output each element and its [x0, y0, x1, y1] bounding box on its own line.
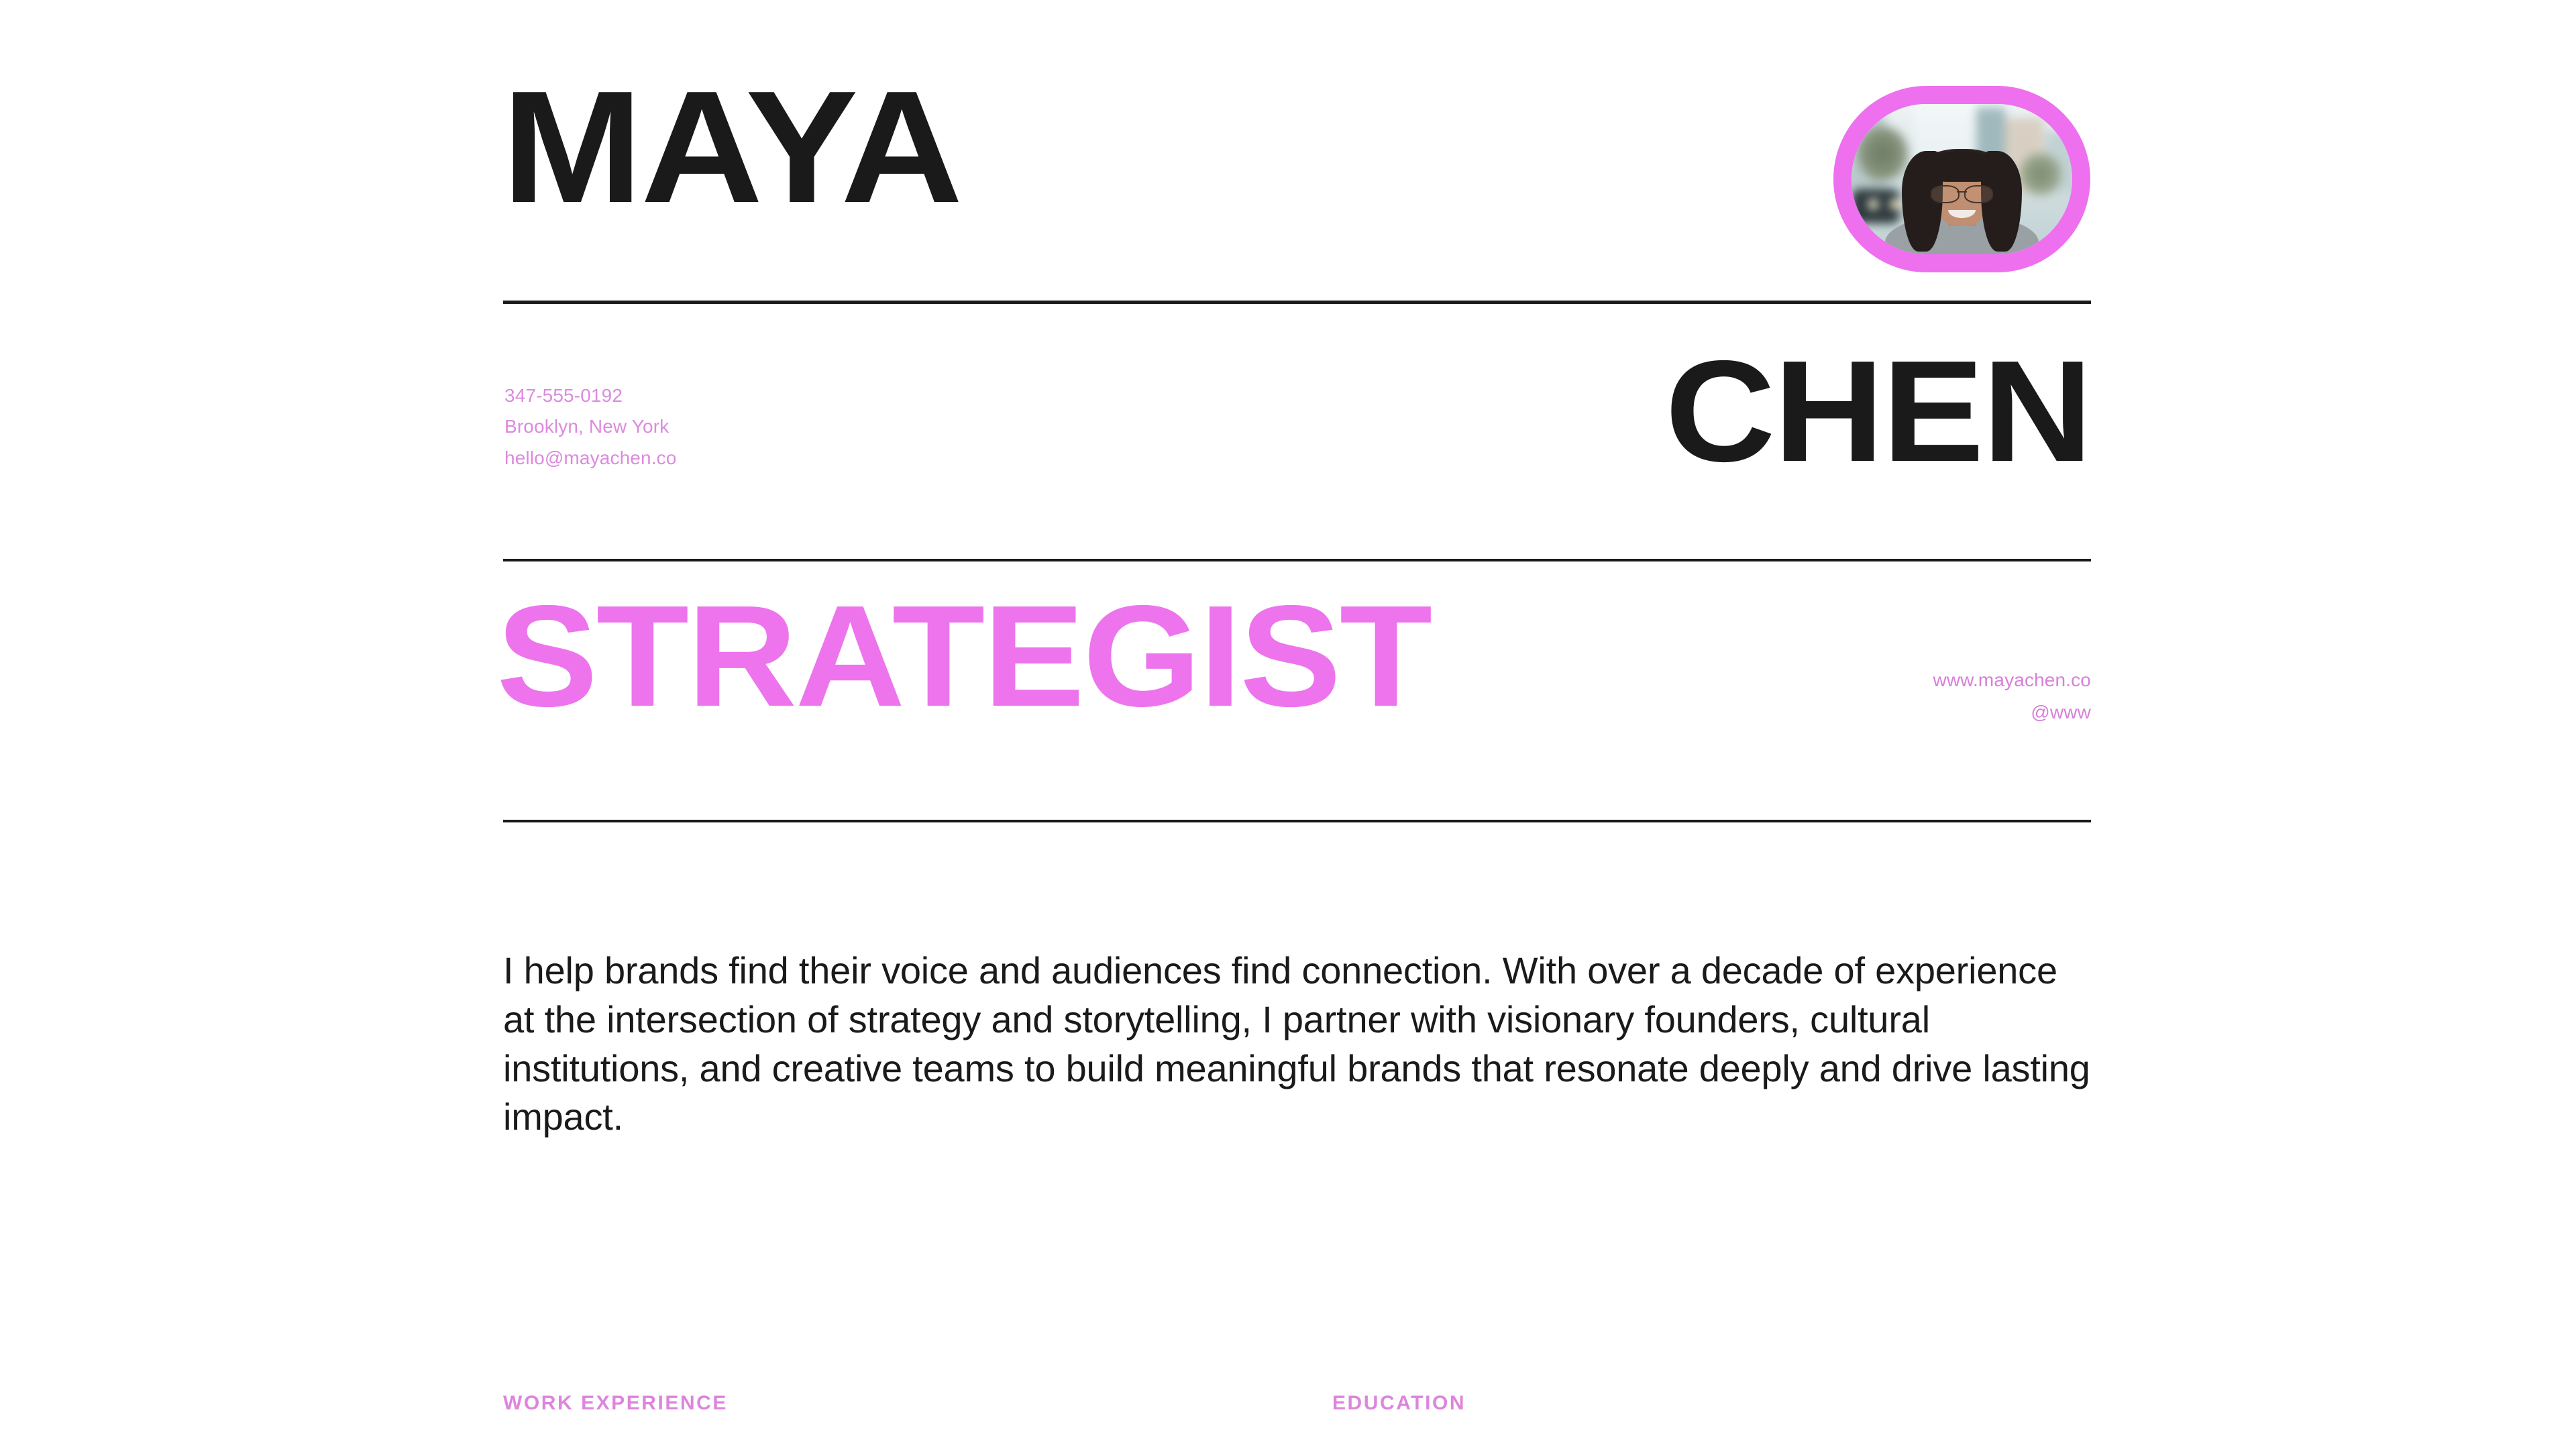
last-name-heading: CHEN: [1665, 352, 2091, 470]
section-heading-work-experience: WORK EXPERIENCE: [503, 1392, 728, 1415]
section-heading-education: EDUCATION: [1332, 1392, 1466, 1415]
divider-rule-top: [503, 301, 2091, 304]
glasses-lens-right: [1964, 185, 1993, 203]
resume-page: MAYA: [0, 0, 2576, 1449]
social-handle[interactable]: @www: [1933, 696, 2091, 729]
web-links-block: www.mayachen.co @www: [1933, 664, 2091, 729]
bio-paragraph: I help brands find their voice and audie…: [503, 947, 2096, 1142]
first-name-heading: MAYA: [502, 82, 961, 213]
avatar-photo: [1851, 104, 2072, 254]
divider-rule-bottom: [503, 820, 2091, 822]
portrait-glasses: [1931, 185, 1994, 201]
contact-phone[interactable]: 347-555-0192: [504, 380, 677, 411]
contact-email[interactable]: hello@mayachen.co: [504, 443, 677, 474]
divider-rule-middle: [503, 559, 2091, 561]
contact-block: 347-555-0192 Brooklyn, New York hello@ma…: [504, 380, 677, 474]
glasses-lens-left: [1931, 185, 1960, 203]
avatar-frame: [1851, 104, 2072, 254]
role-title-heading: STRATEGIST: [496, 597, 1431, 715]
glasses-bridge: [1957, 191, 1967, 193]
contact-location: Brooklyn, New York: [504, 411, 677, 442]
avatar: [1833, 86, 2090, 272]
photo-headlight-left: [1868, 199, 1878, 209]
photo-portrait: [1894, 137, 2031, 254]
website-link[interactable]: www.mayachen.co: [1933, 664, 2091, 696]
